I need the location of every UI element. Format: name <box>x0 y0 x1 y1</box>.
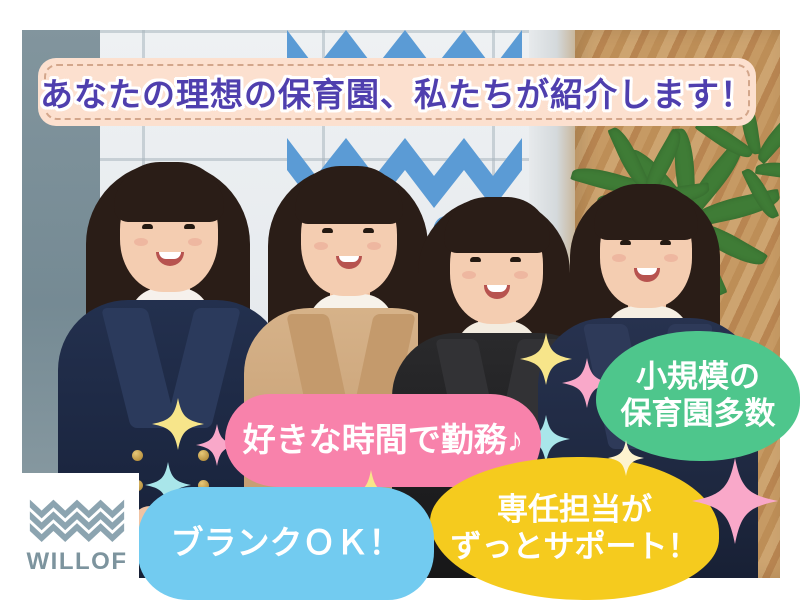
willof-logo-badge: WILLOF <box>15 473 139 600</box>
bubble-green-line-2: 保育園多数 <box>621 396 776 433</box>
poster-canvas: WILLOF <box>0 0 800 600</box>
bubble-blank-ok: ブランクＯＫ！ <box>138 487 434 600</box>
bubble-dedicated-support: 専任担当が ずっとサポート！ <box>430 457 719 600</box>
sparkle-cream-yellow-icon <box>608 440 644 476</box>
willof-logo-text: WILLOF <box>27 548 128 576</box>
bubble-pink-line-1: 好きな時間で勤務♪ <box>243 421 524 460</box>
bubble-green-line-1: 小規模の <box>636 359 760 396</box>
sparkle-pink-right-icon <box>692 458 778 544</box>
bubble-yellow-line-2: ずっとサポート！ <box>451 529 699 566</box>
headline-text: あなたの理想の保育園、私たちが紹介します！ <box>38 58 756 126</box>
willof-zigzag-icon <box>29 498 125 542</box>
bubble-yellow-line-1: 専任担当が <box>497 492 652 529</box>
headline-banner: あなたの理想の保育園、私たちが紹介します！ <box>38 58 756 126</box>
bubble-blue-line-1: ブランクＯＫ！ <box>171 524 402 563</box>
